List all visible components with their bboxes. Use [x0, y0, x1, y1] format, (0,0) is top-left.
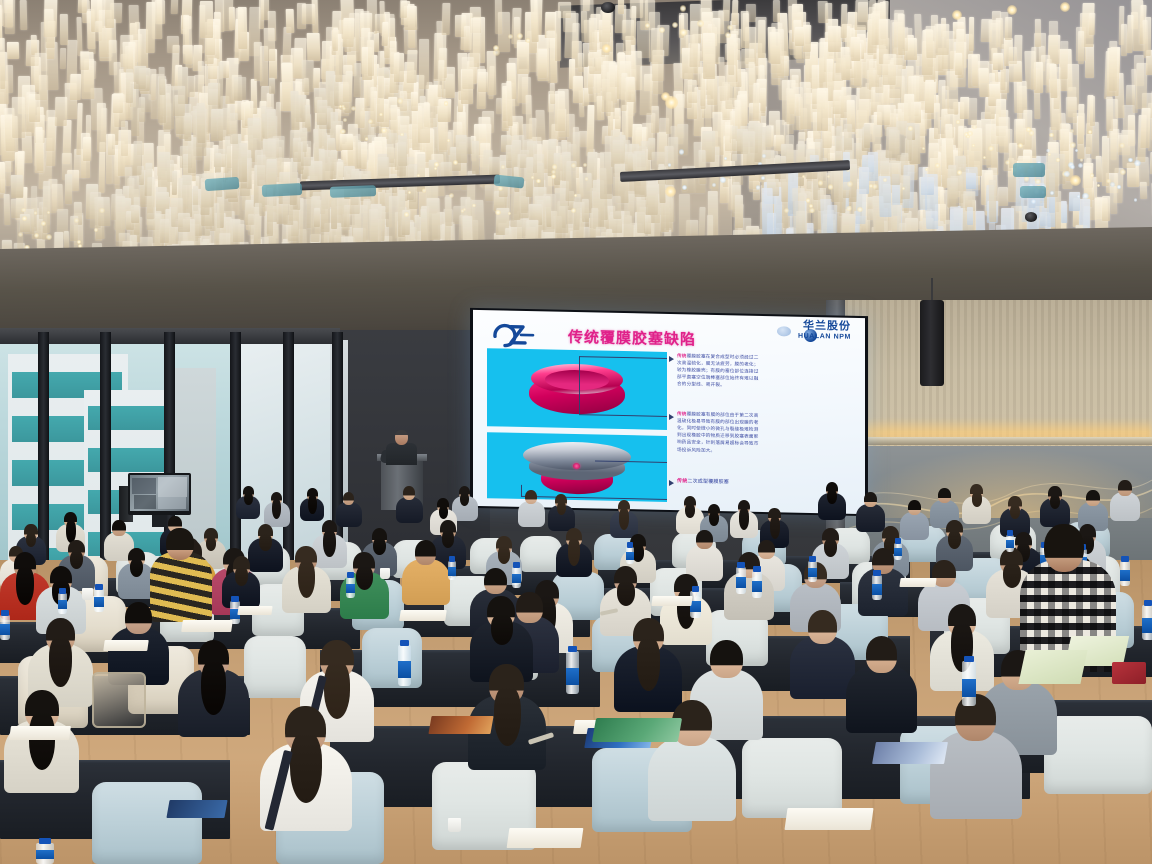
chandelier-slat [126, 69, 133, 103]
chandelier-slat [537, 49, 546, 78]
logo-chinese-text: 华兰股份 [798, 321, 851, 333]
chandelier-slat [133, 66, 145, 89]
chandelier-slat [955, 53, 962, 75]
chandelier-slat [478, 72, 488, 92]
ceiling-downlight [668, 163, 672, 167]
chandelier-slat [489, 157, 500, 175]
chandelier-slat [601, 61, 615, 112]
water-bottle[interactable] [36, 838, 54, 864]
chandelier-slat [317, 100, 327, 125]
chandelier-slat [45, 9, 55, 48]
chandelier-slat [732, 0, 738, 25]
chandelier-slat [45, 110, 55, 151]
chandelier-slat [285, 9, 293, 33]
chandelier-slat [1102, 136, 1109, 186]
water-bottle[interactable] [58, 588, 67, 614]
chandelier-slat [171, 171, 177, 195]
ceiling-downlight [680, 5, 687, 12]
slide-annotation-top: 传统覆膜胶塞在复合成型时必须经过二次高温硫化，膜无法疲劳，膜的老化；较为橡胶膜壳… [677, 352, 763, 389]
ceiling-downlight [983, 156, 986, 159]
chandelier-slat [114, 62, 122, 94]
presenter-torso [386, 443, 417, 465]
chandelier-slat [666, 192, 672, 230]
audience-torso [518, 501, 545, 527]
chandelier-slat [456, 135, 467, 163]
bottle-label [752, 581, 762, 593]
booklet[interactable] [872, 742, 948, 764]
recessed-ceiling-light [1070, 175, 1081, 186]
chandelier-slat [268, 78, 274, 94]
chandelier-slat [239, 143, 247, 182]
ceiling-downlight [501, 165, 505, 169]
ceiling-downlight [449, 193, 454, 198]
bottle-cap [347, 572, 353, 578]
chandelier-slat [343, 65, 352, 102]
wall-rail [845, 437, 1152, 445]
chandelier-slat [233, 77, 245, 100]
chandelier-slat [517, 42, 529, 74]
chandelier-slat [770, 32, 781, 64]
ceiling-downlight [712, 183, 716, 187]
recessed-ceiling-light [1060, 2, 1070, 12]
water-bottle[interactable] [808, 556, 817, 582]
ceiling-downlight [351, 106, 356, 111]
chandelier-slat [12, 97, 25, 138]
chandelier-slat [1090, 96, 1095, 126]
chandelier-slat [1035, 19, 1041, 47]
chandelier-slat [1109, 41, 1118, 91]
chandelier-slat [640, 66, 653, 115]
ceiling-downlight [422, 188, 427, 193]
chandelier-slat [582, 199, 589, 222]
ceiling-downlight [720, 177, 726, 183]
chandelier-slat [7, 0, 14, 29]
chandelier-slat [178, 213, 190, 232]
booklet[interactable] [428, 716, 493, 734]
chandelier-slat [934, 103, 940, 139]
booklet[interactable] [166, 800, 227, 818]
chandelier-slat [159, 67, 166, 95]
callout-arrow-icon [669, 480, 674, 486]
audience-hair [439, 506, 448, 519]
paper-cup[interactable] [380, 568, 390, 579]
chandelier-slat [947, 178, 958, 207]
ceiling-downlight [680, 29, 687, 36]
chandelier-slat [55, 97, 67, 126]
ceiling-downlight [857, 207, 862, 212]
chandelier-slat [368, 32, 374, 76]
audience-hair [491, 614, 513, 645]
audience-hair [739, 508, 749, 530]
audience-head [938, 488, 951, 503]
chandelier-slat [222, 0, 233, 31]
notepad[interactable] [784, 808, 873, 830]
bottle-cap [400, 640, 409, 646]
audience-member [178, 640, 249, 745]
ceiling-downlight [784, 208, 789, 213]
chandelier-slat [773, 0, 780, 22]
chandelier-slat [35, 127, 43, 171]
bottle-cap [1007, 530, 1013, 536]
ceiling-downlight [1031, 199, 1036, 204]
bottle-cap [1121, 556, 1128, 562]
audience-member [396, 486, 423, 526]
chandelier-slat [1013, 81, 1027, 113]
bottle-cap [231, 596, 238, 602]
chandelier-slat [1121, 130, 1135, 168]
chandelier-slat [966, 173, 976, 189]
chandelier-slat [69, 74, 81, 100]
chandelier-slat [926, 211, 938, 229]
audience-member [818, 482, 846, 523]
chandelier-slat [7, 42, 19, 59]
banquet-chair[interactable] [1044, 716, 1152, 794]
teal-accent-fixture [262, 183, 303, 197]
chandelier-slat [332, 28, 337, 51]
bottle-cap [1144, 600, 1152, 606]
chandelier-slat [535, 110, 545, 141]
bottle-label [566, 668, 579, 685]
audience-member [4, 690, 79, 802]
audience-hair [298, 560, 315, 598]
audience-hair [16, 566, 33, 605]
chandelier-slat [1005, 17, 1013, 40]
chandelier-slat [530, 0, 538, 43]
ceiling-downlight [828, 184, 834, 190]
ceiling-downlight [809, 208, 814, 213]
bottle-label [512, 574, 521, 583]
chandelier-slat [679, 194, 690, 239]
notepad[interactable] [181, 620, 233, 632]
chandelier-slat [418, 103, 430, 143]
bottle-label [36, 850, 54, 859]
chandelier-slat [437, 60, 444, 97]
ceiling-downlight [1097, 184, 1100, 187]
audience-hair [201, 660, 226, 715]
chandelier-slat [935, 24, 949, 55]
bottle-label [894, 548, 902, 556]
notepad[interactable] [507, 828, 584, 848]
ceiling-downlight [400, 133, 403, 136]
handbag [92, 672, 146, 728]
notepad[interactable] [651, 596, 692, 606]
ceiling-downlight [551, 174, 556, 179]
notepad[interactable] [103, 640, 149, 651]
chandelier-slat [968, 98, 977, 125]
chandelier-slat [387, 133, 398, 167]
water-bottle[interactable] [566, 646, 579, 694]
bottle-cap [513, 562, 519, 568]
chandelier-slat [426, 198, 440, 240]
chandelier-slat [1009, 47, 1017, 64]
chandelier-slat [762, 188, 773, 240]
audience-head [1118, 480, 1132, 496]
recessed-ceiling-light [665, 186, 676, 197]
ceiling-downlight [343, 118, 346, 121]
ceiling-downlight [368, 119, 373, 124]
chandelier-slat [289, 158, 297, 205]
chandelier-slat [183, 113, 191, 141]
chandelier-slat [854, 0, 868, 30]
water-bottle[interactable] [736, 562, 746, 594]
chandelier-slat [588, 50, 600, 74]
ceiling-downlight [756, 185, 760, 189]
audience-hair [494, 686, 521, 746]
chandelier-slat [399, 0, 406, 18]
chandelier-slat [637, 195, 645, 233]
annotation-keyword: 传统 [677, 353, 687, 358]
chandelier-slat [217, 62, 223, 109]
conference-hall-photo: 传统覆膜胶塞缺陷 华兰股份 HUALAN NPM [0, 0, 1152, 864]
chandelier-slat [238, 7, 247, 49]
chandelier-slat [816, 88, 827, 131]
chandelier-slat [997, 187, 1007, 206]
water-bottle[interactable] [398, 640, 411, 686]
chandelier-slat [646, 185, 659, 215]
water-bottle[interactable] [1120, 556, 1130, 586]
chandelier-slat [752, 83, 759, 123]
chandelier-slat [197, 103, 206, 143]
water-bottle[interactable] [346, 572, 355, 598]
audience-hair [948, 531, 961, 549]
notepad[interactable] [399, 610, 447, 621]
ceiling-downlight [697, 20, 704, 27]
water-bottle[interactable] [894, 538, 902, 560]
ceiling-downlight [846, 206, 852, 212]
chandelier-slat [419, 39, 429, 89]
water-bottle[interactable] [0, 610, 10, 640]
chandelier-slat [35, 53, 48, 100]
bottle-label [808, 568, 817, 577]
water-bottle[interactable] [1006, 530, 1014, 552]
ceiling-downlight [74, 218, 79, 223]
audience-member [1110, 480, 1140, 525]
audience-torso [846, 665, 917, 733]
audience-member [282, 546, 331, 618]
chandelier-slat [600, 152, 612, 199]
chandelier-slat [969, 17, 975, 51]
projection-screen: 传统覆膜胶塞缺陷 华兰股份 HUALAN NPM [473, 310, 865, 514]
banquet-chair[interactable] [92, 782, 202, 864]
chandelier-slat [257, 155, 267, 186]
bottle-label [398, 661, 411, 678]
water-bottle[interactable] [512, 562, 521, 588]
ceiling-downlight [77, 240, 81, 244]
speaker-suspension-wire [931, 278, 933, 302]
paper-cup[interactable] [448, 818, 461, 832]
ceiling-downlight [679, 149, 685, 155]
bottle-label [1120, 570, 1130, 581]
paper-cup[interactable] [82, 588, 93, 600]
chandelier-slat [550, 83, 556, 104]
audience-head [696, 530, 713, 549]
ceiling-downlight [872, 184, 877, 189]
ceiling-downlight [41, 221, 46, 226]
chandelier-slat [795, 27, 804, 46]
chandelier-slat [382, 22, 389, 46]
chandelier-slat [740, 94, 747, 126]
chandelier-slat [578, 53, 584, 72]
banquet-chair[interactable] [742, 738, 842, 818]
confidence-monitor-screen [130, 475, 189, 511]
audience-torso [858, 568, 908, 616]
chandelier-slat [215, 153, 221, 173]
ceiling-downlight [571, 163, 576, 168]
chandelier-slat [819, 42, 827, 91]
water-bottle[interactable] [448, 556, 456, 580]
chandelier-slat [555, 11, 561, 61]
ceiling-downlight [1026, 127, 1031, 132]
water-bottle[interactable] [1142, 600, 1152, 640]
ceiling-downlight [472, 204, 476, 208]
chandelier-slat [1077, 104, 1083, 144]
chandelier-slat [374, 31, 379, 52]
ceiling-speaker-icon [1025, 212, 1037, 222]
notepad[interactable] [1018, 650, 1087, 684]
chandelier-slat [290, 91, 299, 130]
chandelier-slat [1049, 64, 1057, 98]
slide-image-panel-top [487, 348, 667, 430]
chandelier-slat [841, 4, 848, 38]
chandelier-slat [254, 42, 262, 81]
chandelier-slat [495, 0, 502, 33]
chandelier-slat [651, 106, 659, 133]
chandelier-slat [132, 141, 142, 175]
bottle-cap [39, 838, 52, 844]
bottle-cap [692, 586, 700, 592]
slide-image-panel-bottom [487, 432, 667, 502]
ceiling-downlight [551, 170, 556, 175]
chandelier-slat [828, 26, 841, 52]
teal-accent-fixture [330, 185, 376, 198]
ceiling-downlight [340, 129, 346, 135]
company-logo-right: 华兰股份 HUALAN NPM [798, 321, 851, 341]
water-bottle[interactable] [872, 570, 882, 600]
audience-member [518, 490, 545, 530]
ceiling-downlight [404, 212, 409, 217]
chandelier-slat [868, 152, 878, 181]
bottle-cap [627, 542, 633, 548]
audience-member [730, 500, 758, 541]
audience-head [415, 540, 436, 565]
ceiling-downlight [34, 233, 39, 238]
chandelier-slat [462, 57, 474, 89]
water-bottle[interactable] [626, 542, 634, 564]
chandelier-slat [614, 108, 620, 129]
ceiling-downlight [967, 131, 972, 136]
bottle-label [736, 577, 746, 589]
notepad[interactable] [237, 606, 272, 615]
chandelier-slat [818, 1, 829, 23]
chandelier-slat [78, 0, 88, 12]
ceiling-downlight [1110, 182, 1115, 187]
audience-head [710, 640, 743, 678]
chandelier-slat [188, 137, 196, 173]
callout-leader [579, 356, 580, 414]
audience-head [166, 528, 194, 560]
audience-hair [557, 502, 566, 515]
ceiling-downlight [762, 154, 766, 158]
bottle-cap [1, 610, 8, 616]
ceiling-downlight [444, 101, 448, 105]
chandelier-slat [1060, 41, 1069, 79]
ceiling-downlight [498, 186, 503, 191]
red-folder[interactable] [1112, 662, 1146, 684]
audience-hair [1003, 563, 1021, 588]
recessed-ceiling-light [661, 92, 670, 101]
chandelier-slat [302, 4, 315, 24]
ceiling-downlight [1120, 169, 1126, 175]
chandelier-slat [3, 194, 10, 225]
logo-ellipse-icon [777, 326, 791, 336]
chandelier-slat [307, 33, 320, 61]
ceiling-downlight [526, 38, 530, 42]
chandelier-slat [146, 2, 156, 53]
chandelier-slat [1065, 97, 1076, 123]
recessed-ceiling-light [1007, 5, 1017, 15]
bottle-label [1142, 618, 1152, 632]
chandelier-slat [441, 3, 450, 35]
ceiling-downlight [585, 177, 589, 181]
chandelier-slat [233, 220, 244, 242]
chandelier-slat [850, 37, 859, 61]
chandelier-slat [1060, 123, 1069, 151]
audience-hair [130, 559, 143, 577]
chandelier-slat [1085, 44, 1094, 78]
chandelier-slat [867, 7, 874, 55]
green-folder[interactable] [592, 718, 682, 742]
chandelier-slat [612, 196, 621, 219]
film-defect-spot [573, 463, 580, 469]
audience-hair [827, 490, 837, 504]
water-bottle[interactable] [752, 566, 762, 598]
water-bottle[interactable] [94, 584, 104, 612]
ceiling-downlight [972, 125, 976, 129]
bottle-label [94, 597, 104, 607]
ceiling-downlight [1035, 179, 1041, 185]
banquet-chair[interactable] [244, 636, 306, 698]
chandelier-slat [593, 72, 601, 120]
chandelier-slat [883, 54, 897, 85]
notepad[interactable] [899, 578, 936, 587]
caption-keyword: 传统 [677, 478, 687, 484]
teal-accent-fixture [1020, 186, 1046, 198]
bottle-cap [95, 584, 102, 590]
water-bottle[interactable] [962, 656, 976, 706]
audience-hair [709, 512, 719, 526]
annotation-text: 覆膜胶塞有膜的部位由于第二次高温硫化极易导致有膜的部位出现膜的老化，同时使微小的… [677, 411, 759, 452]
audience-head [525, 490, 537, 504]
chandelier-slat [740, 11, 749, 48]
ceiling-downlight [434, 162, 439, 167]
chandelier-slat [1077, 31, 1083, 64]
audience-torso [396, 497, 423, 523]
ceiling-downlight [1018, 143, 1023, 148]
notepad[interactable] [9, 726, 71, 740]
chandelier-slat [996, 126, 1008, 152]
chandelier-slat [589, 18, 597, 52]
chandelier-slat [625, 152, 633, 171]
monitor-tile [134, 495, 156, 509]
ceiling-downlight [988, 146, 994, 152]
chandelier-slat [264, 28, 276, 61]
ceiling-downlight [493, 49, 500, 56]
stopper-film-coated-illustration [523, 441, 631, 497]
company-logo-left-icon [491, 322, 537, 349]
chandelier-slat [378, 51, 384, 98]
callout-leader [579, 356, 667, 359]
chandelier-slat [1095, 156, 1102, 182]
